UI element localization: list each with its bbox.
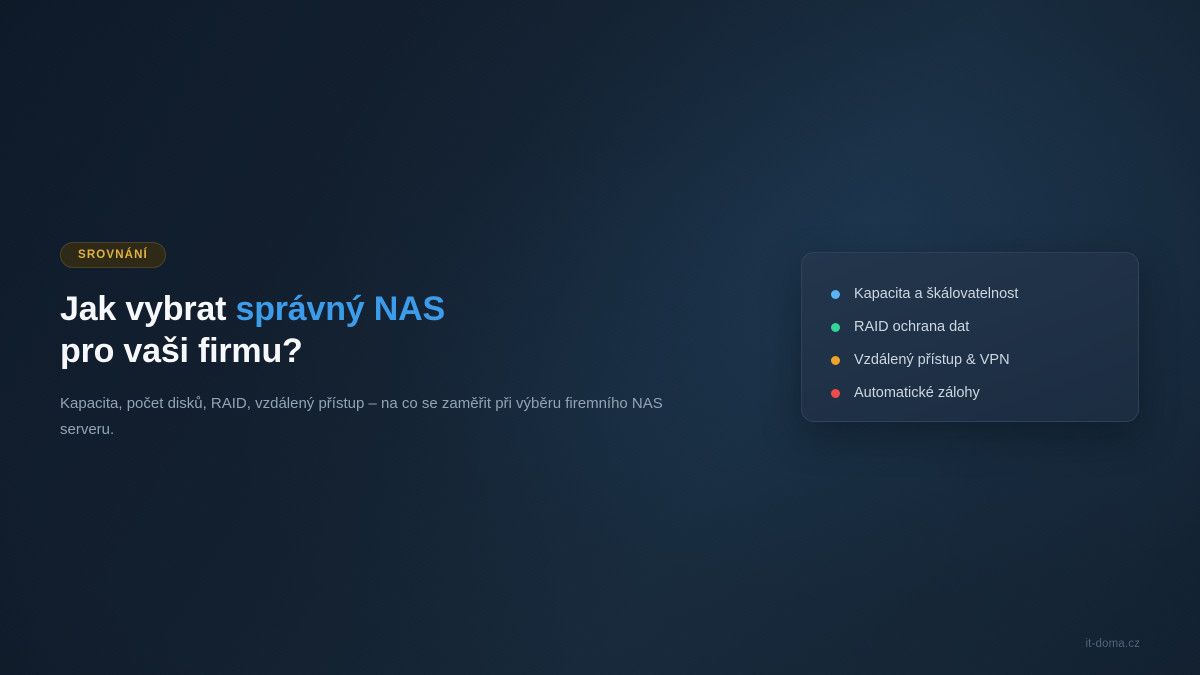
feature-list: Kapacita a škálovatelnost RAID ochrana d… (831, 278, 1138, 410)
list-item: Vzdálený přístup & VPN (831, 344, 1138, 377)
headline-accent: správný NAS (235, 290, 444, 328)
list-item: Kapacita a škálovatelnost (831, 278, 1138, 311)
headline-line-1: Jak vybrat správný NAS (60, 290, 445, 328)
list-item-label: Kapacita a škálovatelnost (854, 287, 1018, 302)
feature-highlights-card: Kapacita a škálovatelnost RAID ochrana d… (801, 252, 1139, 422)
bullet-dot-icon (831, 323, 840, 332)
list-item-label: Automatické zálohy (854, 386, 980, 401)
hero-slide: SROVNÁNÍ Jak vybrat správný NAS pro vaši… (0, 0, 1200, 675)
bullet-dot-icon (831, 290, 840, 299)
page-title: Jak vybrat správný NAS pro vaši firmu? (60, 288, 720, 372)
bullet-dot-icon (831, 356, 840, 365)
list-item-label: RAID ochrana dat (854, 320, 969, 335)
category-badge: SROVNÁNÍ (60, 242, 166, 268)
site-watermark: it-doma.cz (1085, 638, 1140, 650)
list-item-label: Vzdálený přístup & VPN (854, 353, 1010, 368)
hero-subtitle: Kapacita, počet disků, RAID, vzdálený př… (60, 391, 708, 443)
hero-text-column: SROVNÁNÍ Jak vybrat správný NAS pro vaši… (60, 242, 720, 443)
headline-plain-1: Jak vybrat (60, 290, 235, 328)
bullet-dot-icon (831, 389, 840, 398)
list-item: RAID ochrana dat (831, 311, 1138, 344)
list-item: Automatické zálohy (831, 377, 1138, 410)
headline-line-2: pro vaši firmu? (60, 332, 303, 370)
